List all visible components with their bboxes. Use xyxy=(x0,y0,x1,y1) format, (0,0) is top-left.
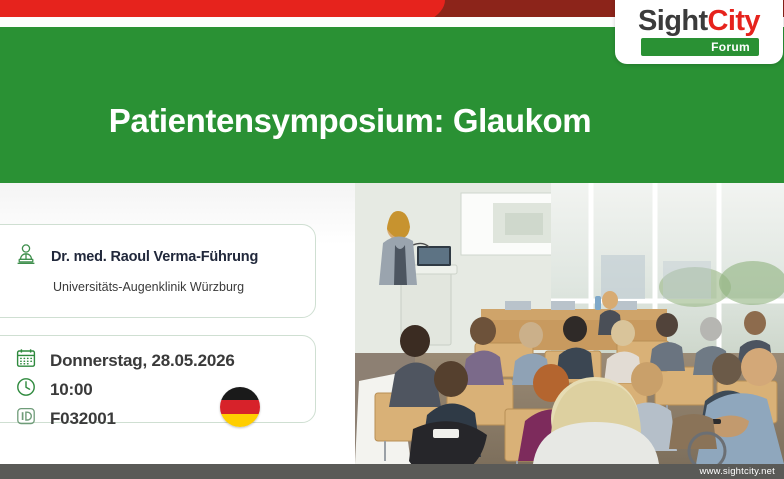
meta-row-time: 10:00 xyxy=(15,375,235,404)
clock-icon xyxy=(15,376,37,403)
footer-website-url[interactable]: www.sightcity.net xyxy=(699,464,775,479)
logo-forum-text: Forum xyxy=(641,38,759,56)
lecture-hall-photo xyxy=(355,183,784,464)
speaker-podium-icon xyxy=(13,241,39,272)
session-date: Donnerstag, 28.05.2026 xyxy=(50,351,235,371)
session-meta-list: Donnerstag, 28.05.2026 10:00 xyxy=(15,346,235,433)
meta-row-date: Donnerstag, 28.05.2026 xyxy=(15,346,235,375)
event-session-card: Patientensymposium: Glaukom SightCity Fo… xyxy=(0,0,784,479)
id-badge-icon xyxy=(15,405,37,432)
logo-wordmark: SightCity xyxy=(615,6,783,36)
logo-city-text: City xyxy=(708,5,760,37)
session-time: 10:00 xyxy=(50,380,92,400)
speaker-row: Dr. med. Raoul Verma-Führung xyxy=(13,241,258,272)
footer-bar: www.sightcity.net xyxy=(0,464,784,479)
logo-forum-bar: Forum xyxy=(641,38,759,56)
meta-row-code: F032001 xyxy=(15,404,235,433)
logo-sight-text: Sight xyxy=(638,5,708,37)
calendar-icon xyxy=(15,347,37,374)
speaker-affiliation: Universitäts-Augenklinik Würzburg xyxy=(53,280,244,294)
top-accent-bar-highlight xyxy=(0,0,445,17)
speaker-card: Dr. med. Raoul Verma-Führung Universität… xyxy=(0,224,316,318)
session-code: F032001 xyxy=(50,409,116,429)
speaker-name: Dr. med. Raoul Verma-Führung xyxy=(51,249,258,265)
page-title: Patientensymposium: Glaukom xyxy=(0,101,700,141)
lecture-hall-photo-graphic xyxy=(355,183,784,464)
german-flag-icon xyxy=(220,387,260,427)
session-meta-card: Donnerstag, 28.05.2026 10:00 xyxy=(0,335,316,423)
sightcity-forum-logo[interactable]: SightCity Forum xyxy=(615,0,783,64)
